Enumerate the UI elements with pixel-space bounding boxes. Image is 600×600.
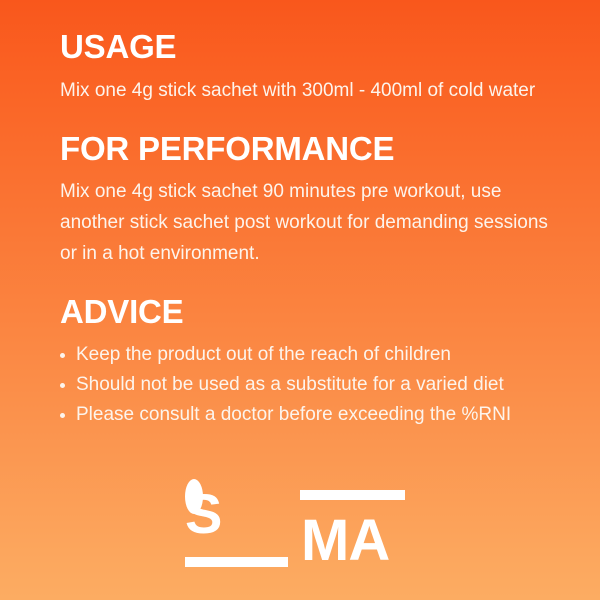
list-item-label: Please consult a doctor before exceeding… <box>76 404 511 425</box>
section-advice: ADVICE Keep the product out of the reach… <box>60 295 560 430</box>
section-heading-advice: ADVICE <box>60 295 560 330</box>
section-usage: USAGE Mix one 4g stick sachet with 300ml… <box>60 30 560 106</box>
logo-top-bar <box>300 490 405 500</box>
list-item-label: Keep the product out of the reach of chi… <box>76 344 451 365</box>
advice-bullet-list: Keep the product out of the reach of chi… <box>60 340 560 430</box>
logo-bottom-bar <box>185 557 288 567</box>
bullet-dot-icon <box>60 383 65 388</box>
list-item-label: Should not be used as a substitute for a… <box>76 374 504 395</box>
list-item: Keep the product out of the reach of chi… <box>60 340 560 370</box>
logo-letters-ma: MA <box>301 512 389 570</box>
bullet-dot-icon <box>60 353 65 358</box>
section-body-for-performance: Mix one 4g stick sachet 90 minutes pre w… <box>60 176 560 269</box>
product-usage-poster: USAGE Mix one 4g stick sachet with 300ml… <box>0 0 600 600</box>
section-heading-usage: USAGE <box>60 30 560 65</box>
logo-letter-s: S <box>185 486 222 542</box>
content-column: USAGE Mix one 4g stick sachet with 300ml… <box>60 30 560 430</box>
section-heading-for-performance: FOR PERFORMANCE <box>60 132 560 167</box>
section-body-usage: Mix one 4g stick sachet with 300ml - 400… <box>60 75 560 106</box>
soma-brand-logo: S MA <box>185 488 407 568</box>
list-item: Please consult a doctor before exceeding… <box>60 400 560 430</box>
section-for-performance: FOR PERFORMANCE Mix one 4g stick sachet … <box>60 132 560 270</box>
list-item: Should not be used as a substitute for a… <box>60 370 560 400</box>
bullet-dot-icon <box>60 413 65 418</box>
